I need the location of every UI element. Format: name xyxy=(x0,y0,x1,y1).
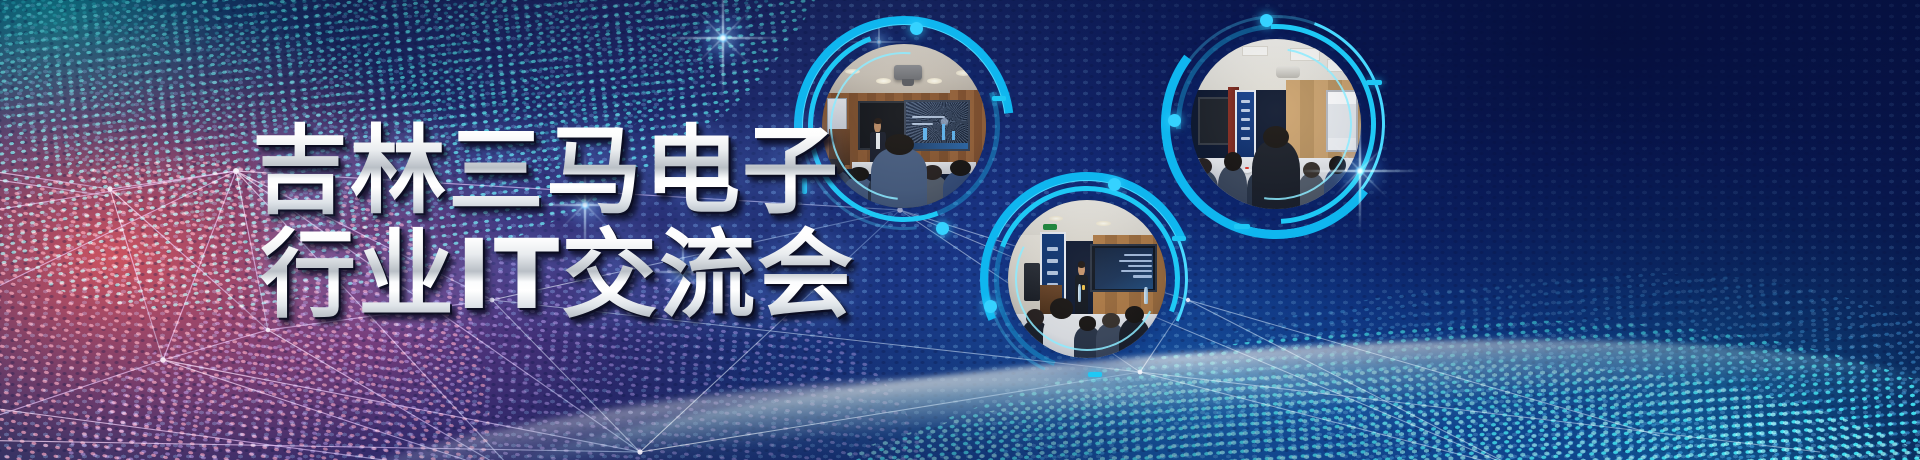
decor-ring-node xyxy=(910,22,923,35)
decor-ring-tick xyxy=(992,96,1006,101)
decor-ring-tick xyxy=(1366,80,1382,85)
headline-line-1: 吉林三马电子 xyxy=(252,118,892,226)
scene-speaker-room xyxy=(1008,200,1166,358)
photo-speaker-microphone-image xyxy=(1008,200,1166,358)
photo-delegates-meeting-image xyxy=(1191,39,1361,209)
decor-ring-node xyxy=(1260,14,1273,27)
decor-ring-node xyxy=(984,300,997,313)
decor-ring-tick xyxy=(1172,236,1186,241)
decor-ring-tick xyxy=(1234,224,1250,229)
scene-meeting-room xyxy=(1191,39,1361,209)
audience-group xyxy=(1191,131,1361,209)
headline-block: 吉林三马电子 行业IT交流会 xyxy=(252,118,892,329)
audience-group xyxy=(1008,288,1166,358)
photo-delegates-meeting[interactable] xyxy=(1174,22,1378,226)
decor-ring-node xyxy=(936,222,949,235)
photo-speaker-microphone[interactable] xyxy=(992,184,1182,374)
decor-ring-tick xyxy=(1088,372,1102,377)
decor-ring-node xyxy=(1108,178,1121,191)
decor-ring-node xyxy=(1168,114,1181,127)
banner-hero: 吉林三马电子 行业IT交流会 xyxy=(0,0,1920,460)
headline-line-2: 行业IT交流会 xyxy=(260,222,892,330)
